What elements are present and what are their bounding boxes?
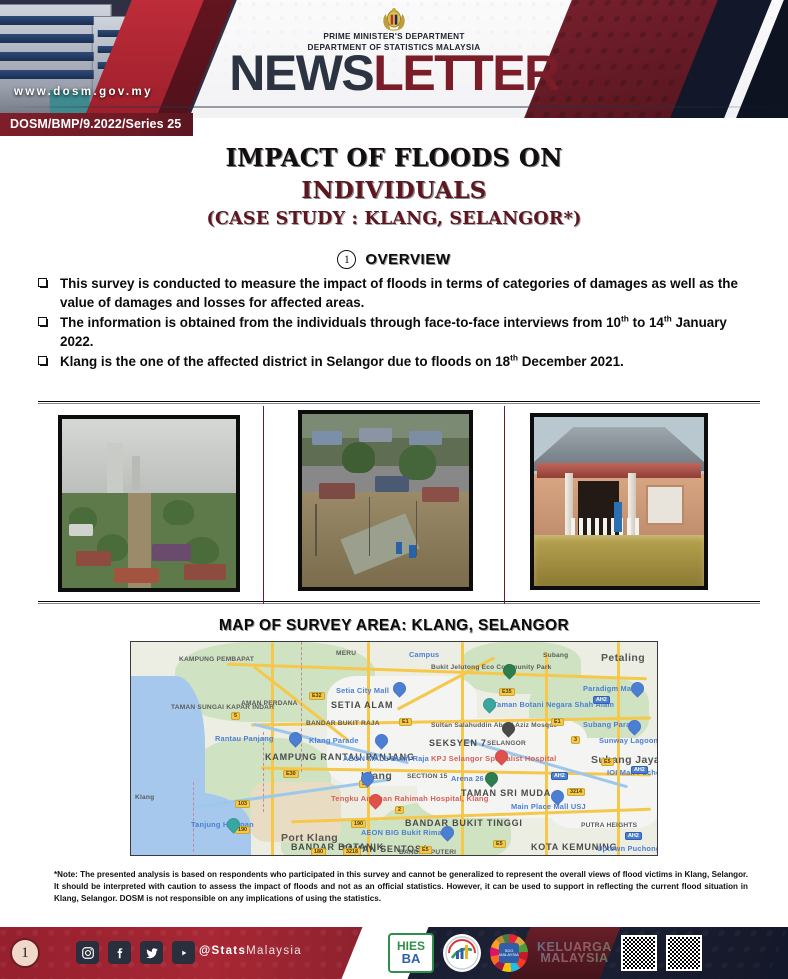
title-line-3: (CASE STUDY : KLANG, SELANGOR*): [0, 209, 788, 229]
instagram-icon[interactable]: [76, 941, 99, 964]
map-route-shield: 5: [231, 712, 240, 720]
footer-logos: HIES BA SDG MALAYSIA KELUARGA MALAYSIA: [388, 933, 702, 973]
title-line-2: INDIVIDUALS: [0, 177, 788, 204]
map-label: AEON BIG Bukit Rimau: [361, 828, 447, 837]
hies-ba-2022-logo: HIES BA: [388, 933, 434, 973]
map-route-shield: AH2: [593, 696, 610, 704]
sdg-center-label: SDG MALAYSIA: [499, 943, 519, 963]
page-footer: 1: [0, 927, 788, 979]
masthead-news: NEWS: [229, 45, 373, 101]
map-route-shield: E1: [551, 718, 564, 726]
aerial-flooded-township-photo: [58, 415, 240, 592]
map-road: [367, 642, 370, 856]
map-label: SETIA ALAM: [331, 700, 393, 710]
newsletter-page: www.dosm.gov.my PRIME MINISTER'S DEPARTM…: [0, 0, 788, 979]
map-label: SECTION 15: [407, 773, 447, 780]
map-label: KAMPUNG PEMBAPAT: [179, 656, 254, 663]
map-label: SELANGOR: [487, 740, 526, 747]
twitter-icon[interactable]: [140, 941, 163, 964]
map-urban-area: [549, 738, 658, 828]
map-label: Main Place Mall USJ: [511, 802, 586, 811]
map-route-shield: 3214: [567, 788, 585, 796]
map-label: Sultan Salahuddin Abdul Aziz Mosque: [431, 722, 557, 729]
map-label: AMAN PERDANA: [241, 700, 298, 707]
map-route-shield: 3: [571, 736, 580, 744]
series-tag: DOSM/BMP/9.2022/Series 25: [0, 113, 193, 136]
masthead-letter: LETTER: [373, 45, 558, 101]
map-section-title: MAP OF SURVEY AREA: KLANG, SELANGOR: [0, 617, 788, 635]
map-label: PUTRA HEIGHTS: [581, 822, 637, 829]
map-label: Klang Parade: [309, 736, 359, 745]
photos-bottom-rule: [38, 601, 760, 604]
map-route-shield: E32: [309, 692, 325, 700]
ba-label: BA: [402, 953, 421, 965]
photos-top-rule: [38, 401, 760, 404]
overview-title: OVERVIEW: [365, 251, 450, 268]
list-item: The information is obtained from the ind…: [38, 313, 760, 351]
map-label: Klang: [135, 794, 154, 801]
handle-bold: @Stats: [199, 945, 246, 957]
map-label: Subang: [543, 652, 568, 659]
map-route-shield: AH2: [551, 772, 568, 780]
keluarga-malaysia-logo: KELUARGA MALAYSIA: [537, 942, 612, 965]
map-route-shield: AH2: [625, 832, 642, 840]
map-boundary: [263, 732, 264, 812]
dept-line-1: PRIME MINISTER'S DEPARTMENT: [308, 32, 481, 43]
map-label: Bukit Jelutong Eco Community Park: [431, 664, 552, 671]
page-number: 1: [10, 938, 40, 968]
map-route-shield: 180: [311, 848, 326, 856]
map-route-shield: 2: [395, 806, 404, 814]
map-label: SEKSYEN 7: [429, 738, 487, 748]
section-number-badge: 1: [337, 250, 356, 269]
map-label: BANDAR BUKIT RAJA: [306, 720, 380, 727]
map-route-shield: E35: [499, 688, 515, 696]
list-item: Klang is the one of the affected distric…: [38, 352, 760, 371]
map-route-shield: 3218: [343, 848, 361, 856]
keluarga-line-2: MALAYSIA: [540, 953, 608, 964]
survey-area-map[interactable]: KAMPUNG PEMBAPATMERUCampusSubangPetaling…: [130, 641, 658, 856]
map-route-shield: 190: [351, 820, 366, 828]
page-title: IMPACT OF FLOODS ON INDIVIDUALS (CASE ST…: [0, 143, 788, 229]
map-route-shield: AH2: [631, 766, 648, 774]
page-header: www.dosm.gov.my PRIME MINISTER'S DEPARTM…: [0, 0, 788, 118]
map-label: Sunway Lagoon: [599, 736, 658, 745]
list-item: This survey is conducted to measure the …: [38, 274, 760, 312]
header-baseline-rule: [0, 106, 788, 108]
bullet-text: This survey is conducted to measure the …: [60, 274, 760, 312]
facebook-icon[interactable]: [108, 941, 131, 964]
map-label: Petaling: [601, 652, 645, 664]
map-label: MERU: [336, 650, 356, 657]
map-boundary: [193, 782, 194, 852]
map-route-shield: E30: [283, 770, 299, 778]
map-label: Campus: [409, 650, 439, 659]
map-label: BANDAR BOTANIK: [291, 842, 384, 852]
map-route-shield: 103: [235, 800, 250, 808]
map-route-shield: E5: [493, 840, 506, 848]
flooded-house-frontage-photo: [530, 413, 708, 590]
bullet-square-icon: [38, 356, 47, 365]
qr-code-website[interactable]: [621, 935, 657, 971]
bullet-text: Klang is the one of the affected distric…: [60, 352, 624, 371]
bullet-text: The information is obtained from the ind…: [60, 313, 760, 351]
map-label: Rantau Panjang: [215, 734, 274, 743]
map-label: Paradigm Mall: [583, 684, 636, 693]
map-label: AEON MALL Bukit Raja: [343, 754, 429, 763]
bullet-square-icon: [38, 278, 47, 287]
handle-light: Malaysia: [246, 945, 302, 957]
map-label: Uptown Puchong Night Bazaar: [597, 844, 658, 853]
dosm-seal-logo: [443, 934, 481, 972]
masthead-newsletter: NEWSLETTER: [229, 48, 558, 98]
qr-code-facebook[interactable]: [666, 935, 702, 971]
map-route-shield: E1: [399, 718, 412, 726]
title-line-1: IMPACT OF FLOODS ON: [0, 143, 788, 172]
social-links: [76, 941, 195, 964]
overview-heading: 1 OVERVIEW: [0, 250, 788, 269]
map-label: Setia City Mall: [336, 686, 389, 695]
dosm-website-url: www.dosm.gov.my: [14, 86, 153, 98]
photo-divider-1: [263, 406, 264, 604]
malaysia-coat-of-arms-icon: [377, 4, 411, 32]
sdg-malaysia-logo: SDG MALAYSIA: [490, 934, 528, 972]
bullet-square-icon: [38, 317, 47, 326]
social-handle: @StatsMalaysia: [199, 945, 302, 957]
footnote-text: *Note: The presented analysis is based o…: [54, 869, 748, 905]
overview-bullet-list: This survey is conducted to measure the …: [38, 274, 760, 372]
map-label: Arena 26: [451, 774, 484, 783]
map-label: BANDAR BUKIT TINGGI: [405, 818, 523, 828]
youtube-icon[interactable]: [172, 941, 195, 964]
map-road: [271, 642, 274, 856]
photo-divider-2: [504, 406, 505, 604]
map-route-shield: E5: [601, 758, 614, 766]
map-label: TAMAN SRI MUDA: [461, 788, 551, 798]
map-route-shield: E5: [419, 846, 432, 854]
aerial-flooded-houses-bridge-photo: [298, 410, 473, 591]
